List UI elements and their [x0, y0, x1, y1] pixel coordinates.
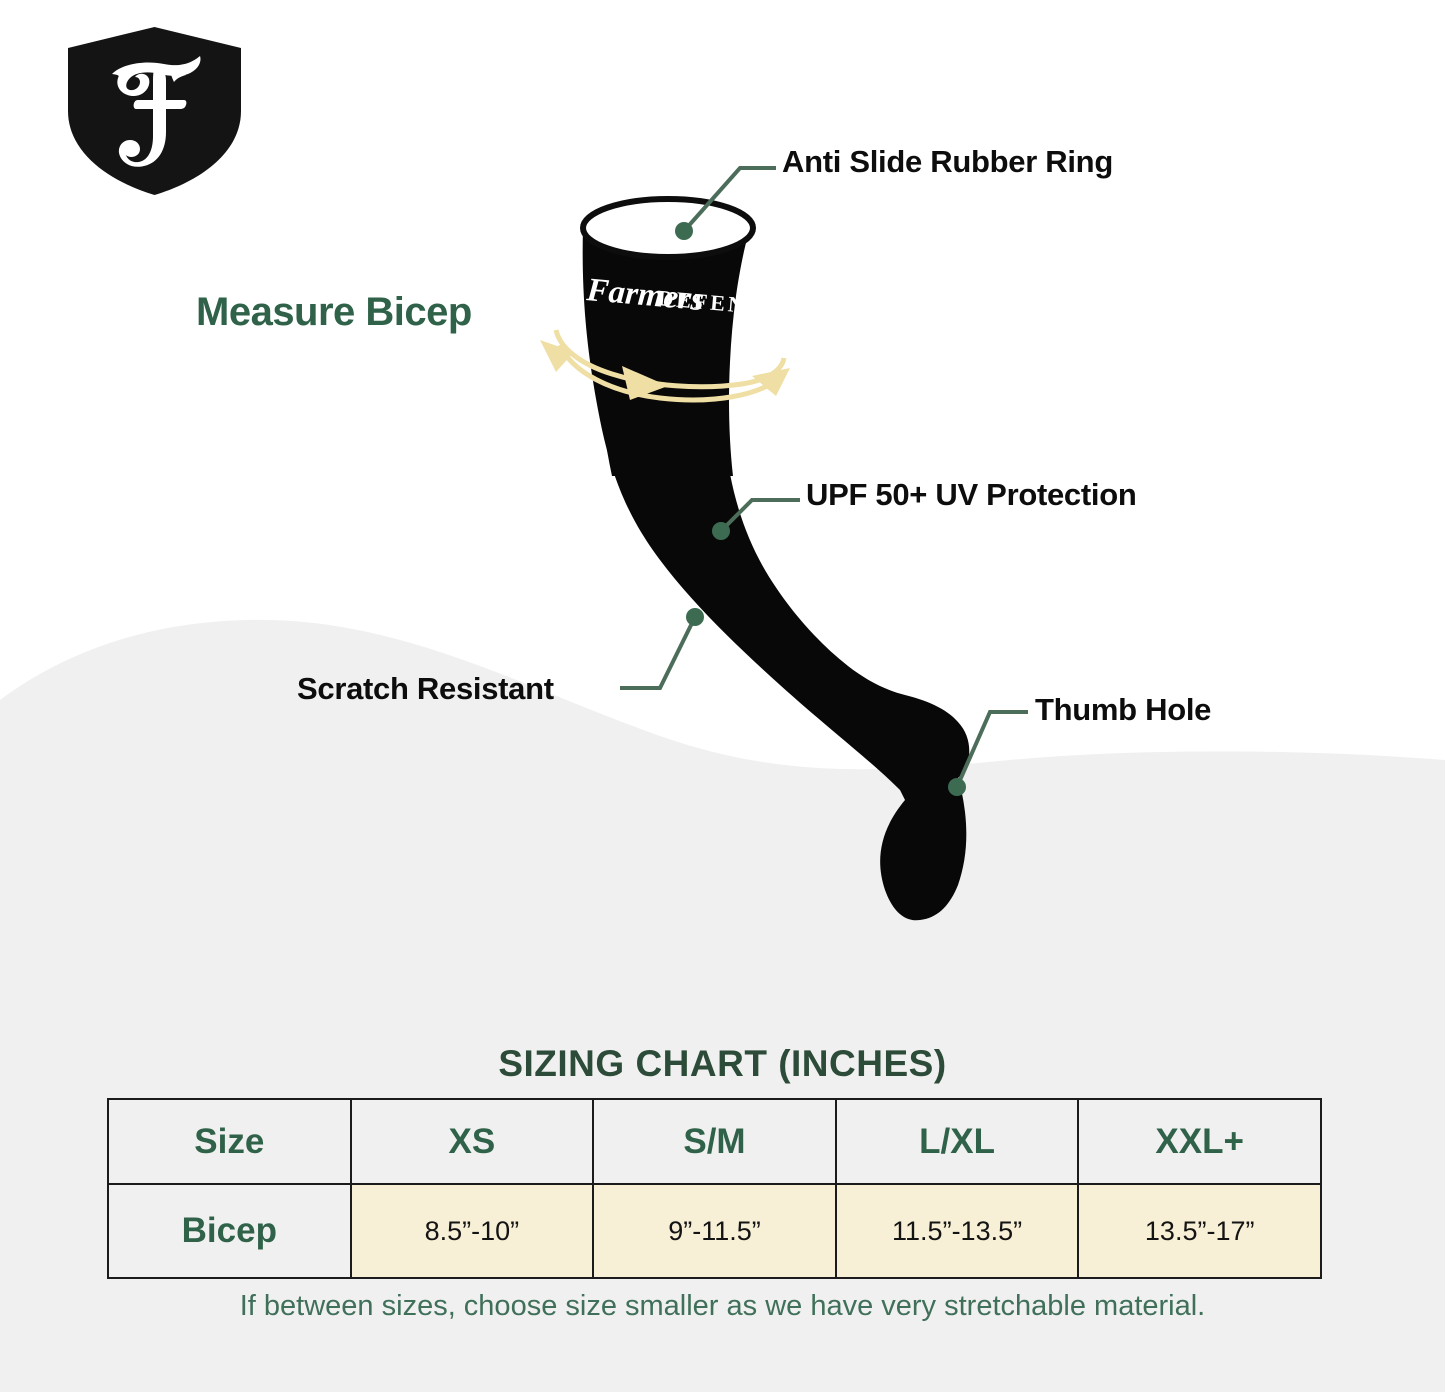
product-infographic: Farmers DEFENSE: [0, 0, 1445, 1392]
sizing-chart-note: If between sizes, choose size smaller as…: [0, 1290, 1445, 1323]
cell-bicep-xs: 8.5”-10”: [351, 1184, 594, 1278]
sleeve-brand-text: Farmers DEFENSE: [584, 272, 780, 321]
leader-dot-upf: [712, 522, 730, 540]
cell-bicep-lxl: 11.5”-13.5”: [836, 1184, 1079, 1278]
sleeve-body: [583, 199, 970, 920]
cell-bicep-xxl: 13.5”-17”: [1078, 1184, 1321, 1278]
table-header-sm: S/M: [593, 1099, 836, 1184]
callout-thumb-hole: Thumb Hole: [1035, 692, 1211, 728]
svg-text:DEFENSE: DEFENSE: [657, 285, 781, 321]
sizing-chart-title: SIZING CHART (INCHES): [0, 1043, 1445, 1085]
svg-text:Farmers: Farmers: [584, 272, 705, 318]
leader-dot-anti-slide: [675, 222, 693, 240]
table-header-size: Size: [108, 1099, 351, 1184]
leader-line-upf: [721, 500, 800, 531]
leader-dot-thumb: [948, 778, 966, 796]
shield-logo-icon: [52, 16, 257, 206]
table-header-lxl: L/XL: [836, 1099, 1079, 1184]
callout-anti-slide-rubber-ring: Anti Slide Rubber Ring: [782, 144, 1113, 180]
measure-tape-arrowheads: [540, 340, 790, 400]
leader-line-anti-slide: [684, 168, 776, 231]
cell-bicep-sm: 9”-11.5”: [593, 1184, 836, 1278]
leader-line-thumb: [957, 712, 1028, 787]
leader-dot-scratch: [686, 608, 704, 626]
callout-upf-uv-protection: UPF 50+ UV Protection: [806, 477, 1136, 513]
callout-scratch-resistant: Scratch Resistant: [297, 671, 554, 707]
table-row-bicep: Bicep 8.5”-10” 9”-11.5” 11.5”-13.5” 13.5…: [108, 1184, 1321, 1278]
row-label-bicep: Bicep: [108, 1184, 351, 1278]
table-header-xxl: XXL+: [1078, 1099, 1321, 1184]
measure-tape-arrow: [556, 330, 784, 400]
measure-bicep-label: Measure Bicep: [196, 290, 472, 335]
table-header-row: Size XS S/M L/XL XXL+: [108, 1099, 1321, 1184]
sizing-chart-table: Size XS S/M L/XL XXL+ Bicep 8.5”-10” 9”-…: [107, 1098, 1322, 1279]
table-header-xs: XS: [351, 1099, 594, 1184]
leader-line-scratch: [620, 617, 695, 688]
